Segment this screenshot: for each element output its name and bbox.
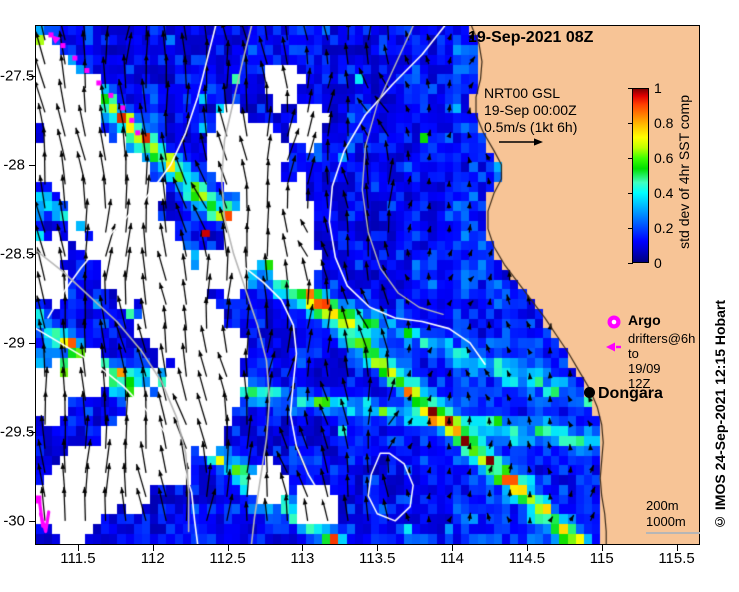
colorbar-tick-3 <box>628 158 633 159</box>
sst-variance-map <box>35 25 700 545</box>
argo-legend-label: Argo <box>628 312 661 328</box>
y-tick-label-3: -29 <box>0 334 25 351</box>
colorbar-tick-1 <box>628 228 633 229</box>
y-tick-5 <box>29 521 36 522</box>
colorbar-label-1: 0.2 <box>654 220 673 236</box>
timestamp-label: 19-Sep-2021 08Z <box>468 29 593 47</box>
colorbar-label-4: 0.8 <box>654 115 673 131</box>
colorbar-tick-4 <box>628 123 633 124</box>
colorbar-label-3: 0.6 <box>654 150 673 166</box>
x-tick-label-2: 112.5 <box>209 550 245 567</box>
colorbar-tick-5 <box>628 88 633 89</box>
colorbar-label-0: 0 <box>654 255 662 271</box>
y-tick-label-4: -29.5 <box>0 423 25 440</box>
colorbar-tick-0 <box>628 263 633 264</box>
x-tick-label-4: 113.5 <box>359 550 395 567</box>
vector-annotation-block: NRT00 GSL 19-Sep 00:00Z 0.5m/s (1kt 6h) <box>484 85 577 136</box>
colorbar-label-2: 0.4 <box>654 185 673 201</box>
depth-label-1000m: 1000m <box>646 514 686 530</box>
colorbar: 0 0.2 0.4 0.6 0.8 1 <box>632 88 649 263</box>
x-tick-label-6: 114.5 <box>509 550 545 567</box>
depth-label-200m: 200m <box>646 498 686 514</box>
y-tick-1 <box>29 165 36 166</box>
y-tick-label-1: -28 <box>0 156 25 173</box>
x-tick-label-1: 112 <box>141 550 165 567</box>
y-tick-3 <box>29 343 36 344</box>
colorbar-label-5: 1 <box>654 80 662 96</box>
drifter-legend-line1: drifters@6h <box>628 331 695 346</box>
x-tick-label-0: 111.5 <box>60 550 95 567</box>
vector-source-label: NRT00 GSL <box>484 85 577 102</box>
y-tick-label-0: -27.5 <box>0 67 25 84</box>
drifter-legend-line2: to 19/09 12Z <box>628 346 661 391</box>
x-tick-label-7: 115 <box>590 550 614 567</box>
drifter-arrow-icon <box>606 341 622 353</box>
bathymetry-legend-rule <box>646 532 700 534</box>
vector-scale-arrow-icon <box>498 136 544 148</box>
x-tick-label-5: 114 <box>440 550 464 567</box>
vector-time-label: 19-Sep 00:00Z <box>484 102 577 119</box>
colorbar-tick-2 <box>628 193 633 194</box>
y-tick-label-5: -30 <box>0 512 25 529</box>
coastline-bathymetry-layer <box>36 26 699 544</box>
bathymetry-legend: 200m 1000m <box>646 498 686 530</box>
x-tick-label-8: 115.5 <box>658 550 694 567</box>
y-tick-label-2: -28.5 <box>0 245 25 262</box>
colorbar-title: std dev of 4hr SST comp <box>676 95 692 249</box>
dongara-marker <box>584 387 595 398</box>
vector-scale-label: 0.5m/s (1kt 6h) <box>484 119 577 136</box>
argo-float-icon <box>606 314 622 330</box>
imos-credit: © IMOS 24-Sep-2021 12:15 Hobart <box>712 300 728 530</box>
colorbar-gradient <box>632 88 649 263</box>
x-tick-label-3: 113 <box>290 550 314 567</box>
